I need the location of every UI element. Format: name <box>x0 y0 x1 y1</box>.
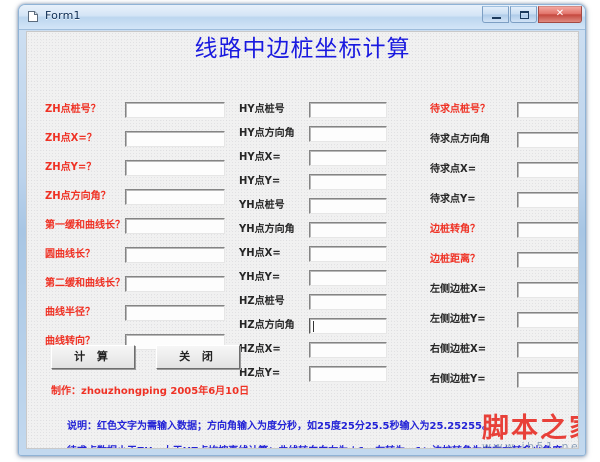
text-input[interactable] <box>309 270 387 286</box>
text-input[interactable] <box>517 222 579 238</box>
close-button[interactable]: ✕ <box>538 6 582 23</box>
window-controls: ✕ <box>481 6 582 23</box>
field-label: 右侧边桩Y= <box>430 374 486 386</box>
text-input[interactable] <box>517 102 579 118</box>
text-input[interactable] <box>517 342 579 358</box>
text-input[interactable] <box>309 366 387 382</box>
text-input[interactable] <box>517 252 579 268</box>
author-credit: 制作：zhouzhongping 2005年6月10日 <box>51 382 249 397</box>
field-label: 右侧边桩X= <box>430 344 486 356</box>
field-label: ZH点方向角？ <box>45 191 111 203</box>
field-label: YH点Y= <box>239 272 280 284</box>
field-label: 左侧边桩X= <box>430 284 486 296</box>
close-icon: ✕ <box>539 9 581 19</box>
field-label: 圆曲线长？ <box>45 249 95 261</box>
field-label: 第二缓和曲线长？ <box>45 278 125 290</box>
window-title: Form1 <box>45 9 81 22</box>
watermark-text: 脚本之家 <box>482 414 579 444</box>
page-title: 线路中边桩坐标计算 <box>27 34 578 64</box>
text-input[interactable] <box>125 131 225 147</box>
note-line-2: 待求点数据小于ZH、大于HZ点均按直线计算；曲线转向向右为＋1，左转为－1；边桩… <box>67 442 572 449</box>
text-input[interactable] <box>125 305 225 321</box>
field-label: HZ点方向角 <box>239 320 295 332</box>
minimize-button[interactable] <box>482 6 509 23</box>
text-input[interactable] <box>125 160 225 176</box>
text-input[interactable] <box>309 174 387 190</box>
field-label: 边桩转角？ <box>430 224 480 236</box>
field-label: 待求点X= <box>430 164 476 176</box>
field-label: ZH点桩号？ <box>45 104 101 116</box>
field-label: YH点X= <box>239 248 281 260</box>
field-label: 曲线半径？ <box>45 307 95 319</box>
text-input[interactable] <box>517 312 579 328</box>
text-input[interactable] <box>309 150 387 166</box>
field-label: ZH点X=？ <box>45 133 97 145</box>
field-label: HZ点X= <box>239 344 281 356</box>
field-label: HY点桩号 <box>239 104 285 116</box>
form-client-area: 线路中边桩坐标计算 ZH点桩号？ZH点X=？ZH点Y=？ZH点方向角？第一缓和曲… <box>26 31 579 449</box>
maximize-icon <box>520 11 529 19</box>
field-label: HZ点桩号 <box>239 296 285 308</box>
field-label: 待求点方向角 <box>430 134 490 146</box>
text-input[interactable] <box>309 318 387 334</box>
field-label: YH点桩号 <box>239 200 285 212</box>
text-input[interactable] <box>517 192 579 208</box>
field-label: 第一缓和曲线长？ <box>45 220 125 232</box>
text-input[interactable] <box>125 247 225 263</box>
field-label: HZ点Y= <box>239 368 280 380</box>
text-input[interactable] <box>125 276 225 292</box>
maximize-button[interactable] <box>510 6 537 23</box>
text-input[interactable] <box>125 102 225 118</box>
field-label: YH点方向角 <box>239 224 295 236</box>
text-input[interactable] <box>309 342 387 358</box>
text-input[interactable] <box>309 102 387 118</box>
text-input[interactable] <box>309 246 387 262</box>
note-line-1: 说明：红色文字为需输入数据；方向角输入为度分秒，如25度25分25.5秒输入为2… <box>67 417 492 432</box>
field-label: 边桩距离？ <box>430 254 480 266</box>
text-input[interactable] <box>517 372 579 388</box>
minimize-icon <box>492 17 501 19</box>
text-input[interactable] <box>309 198 387 214</box>
form-document-icon <box>27 10 40 23</box>
calculate-button[interactable]: 计 算 <box>51 345 135 369</box>
text-input[interactable] <box>309 126 387 142</box>
field-label: 左侧边桩Y= <box>430 314 486 326</box>
screenshot-root: Form1 ✕ 线路中边桩坐标计算 ZH点桩号？ZH点X=？ZH点Y=？ZH点方… <box>0 0 600 462</box>
text-input[interactable] <box>517 162 579 178</box>
close-action-button[interactable]: 关 闭 <box>156 345 240 369</box>
text-input[interactable] <box>309 222 387 238</box>
text-input[interactable] <box>125 189 225 205</box>
text-input[interactable] <box>125 218 225 234</box>
field-label: HY点方向角 <box>239 128 295 140</box>
text-input[interactable] <box>309 294 387 310</box>
application-window: Form1 ✕ 线路中边桩坐标计算 ZH点桩号？ZH点X=？ZH点Y=？ZH点方… <box>18 4 586 456</box>
text-caret <box>313 321 314 332</box>
field-label: HY点X= <box>239 152 281 164</box>
text-input[interactable] <box>517 132 579 148</box>
title-bar[interactable]: Form1 ✕ <box>19 5 585 30</box>
text-input[interactable] <box>517 282 579 298</box>
field-label: 待求点桩号？ <box>430 104 490 116</box>
field-label: 待求点Y= <box>430 194 476 206</box>
field-label: HY点Y= <box>239 176 280 188</box>
field-label: ZH点Y=？ <box>45 162 96 174</box>
